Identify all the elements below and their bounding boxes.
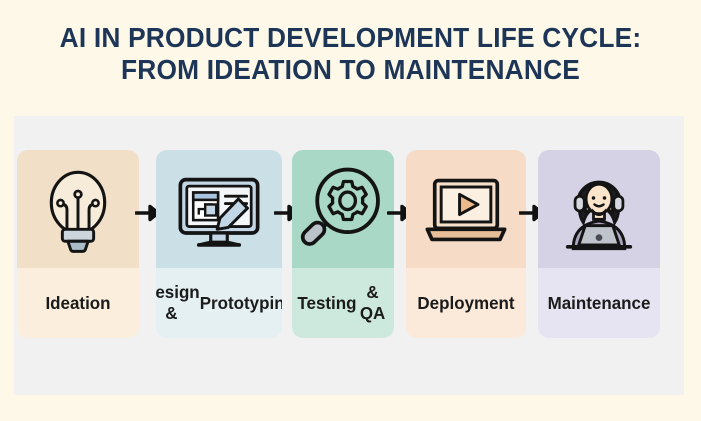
page-title: AI IN PRODUCT DEVELOPMENT LIFE CYCLE: FR… — [0, 22, 701, 86]
stage-card-deployment[interactable]: Deployment — [406, 150, 526, 338]
stage-label-line-1: Testing — [297, 293, 356, 314]
stage-card-maintenance[interactable]: Maintenance — [538, 150, 660, 338]
stage-label-ideation: Ideation — [19, 268, 137, 338]
stage-label-maintenance: Maintenance — [540, 268, 658, 338]
title-line-1: AI IN PRODUCT DEVELOPMENT LIFE CYCLE: — [21, 22, 680, 54]
laptop-play-icon — [420, 164, 512, 256]
monitor-pencil-icon — [173, 164, 265, 256]
stage-card-testing-qa[interactable]: Testing& QA — [292, 150, 394, 338]
magnifier-gear-icon — [297, 164, 389, 256]
stage-label-testing-qa: Testing& QA — [294, 268, 393, 338]
stage-label-line-2: & QA — [357, 282, 389, 324]
stage-card-design-prototyping[interactable]: Design &Prototyping — [156, 150, 282, 338]
process-flow: Ideation Design &Prototyping Testing& QA — [14, 150, 684, 338]
infographic-canvas: AI IN PRODUCT DEVELOPMENT LIFE CYCLE: FR… — [0, 0, 701, 421]
title-line-2: FROM IDEATION TO MAINTENANCE — [21, 54, 680, 86]
stage-label-line-1: Design & — [156, 282, 200, 324]
stage-label-deployment: Deployment — [408, 268, 524, 338]
stage-label-line-2: Prototyping — [200, 293, 282, 314]
lightbulb-circuit-icon — [32, 164, 124, 256]
stage-card-ideation[interactable]: Ideation — [17, 150, 139, 338]
stage-label-design-prototyping: Design &Prototyping — [158, 268, 280, 338]
support-agent-icon — [553, 164, 645, 256]
